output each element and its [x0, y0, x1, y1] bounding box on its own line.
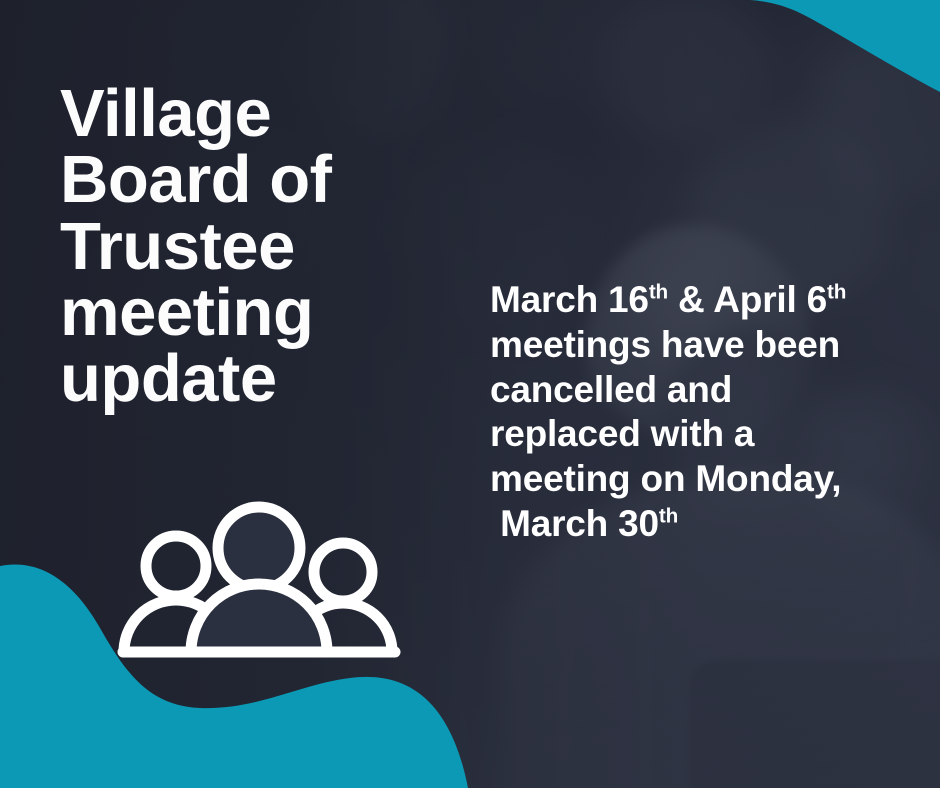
poster-canvas: Village Board of Trustee meeting update …: [0, 0, 940, 788]
body-line-1: March 16th & April 6th: [490, 278, 910, 323]
person-right-head: [314, 543, 372, 601]
ordinal-suffix-th: th: [659, 505, 678, 528]
group-of-people-icon: [114, 500, 404, 662]
body-line-6: March 30th: [490, 502, 910, 547]
poster-body-copy: March 16th & April 6th meetings have bee…: [490, 278, 910, 547]
person-center-body: [191, 584, 327, 652]
body-line-5: meeting on Monday,: [490, 457, 910, 502]
ordinal-suffix-th: th: [649, 281, 668, 304]
body-line-3: cancelled and: [490, 368, 910, 413]
person-left-head: [146, 536, 206, 596]
body-line-4: replaced with a: [490, 412, 910, 457]
person-center-head: [218, 507, 300, 589]
poster-headline: Village Board of Trustee meeting update: [60, 81, 460, 413]
body-line-2: meetings have been: [490, 323, 910, 368]
ordinal-suffix-th: th: [827, 281, 846, 304]
